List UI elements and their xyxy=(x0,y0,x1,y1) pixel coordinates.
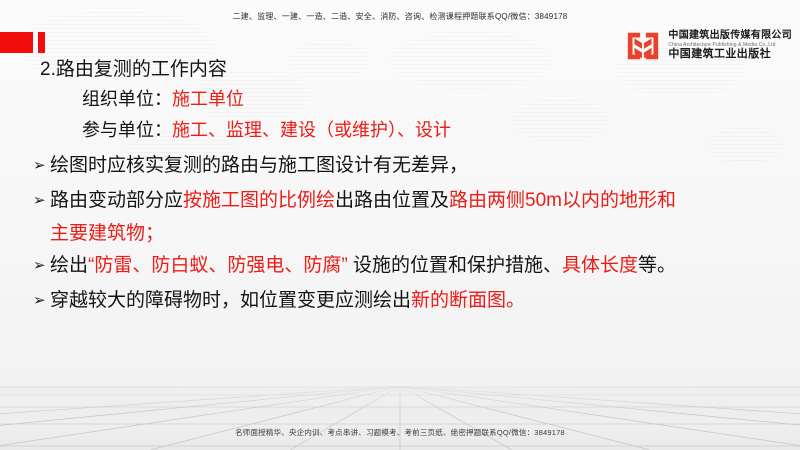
sub-line-participants-value: 施工、监理、建设（或维护）、设计 xyxy=(172,120,451,140)
bullet-text-0-0: 绘图时应核实复测的路由与施工图设计有无差异， xyxy=(50,155,468,176)
bullet-text-2-1: “防雷、防白蚁、防强电、防腐” xyxy=(88,255,348,276)
bullet-text-1-0: 路由变动部分应 xyxy=(50,190,183,211)
bullet-arrow-icon: ➢ xyxy=(33,149,50,183)
bullet-text-1-1: 按施工图的比例绘 xyxy=(183,190,335,211)
bullet-item: ➢绘图时应核实复测的路由与施工图设计有无差异， xyxy=(33,149,800,184)
bullet-text-2-0: 绘出 xyxy=(50,255,88,276)
sub-line-participants-label: 参与单位： xyxy=(82,120,172,140)
bullet-item: ➢绘出“防雷、防白蚁、防强电、防腐” 设施的位置和保护措施、具体长度等。 xyxy=(33,249,800,284)
bullet-text-2-2: 设施的位置和保护措施、 xyxy=(348,255,562,276)
presentation-slide: 二建、监理、一建、一造、二造、安全、消防、咨询、检测课程押题联系QQ/微信：38… xyxy=(0,0,800,450)
footer-text: 名师面授精华、央企内训、考点串讲、习题模考、考前三页纸、绝密押题联系QQ/微信：… xyxy=(0,427,800,438)
sub-line-organizer-label: 组织单位： xyxy=(82,89,172,109)
bullet-text-3-0: 穿越较大的障碍物时，如位置变更应测绘出 xyxy=(50,290,411,311)
slide-content: 2.路由复测的工作内容 组织单位：施工单位 参与单位：施工、监理、建设（或维护）… xyxy=(0,56,800,319)
bullet-text-1-3: 路由两侧50m以内的地形和 xyxy=(449,190,676,211)
bullet-item: ➢穿越较大的障碍物时，如位置变更应测绘出新的断面图。 xyxy=(33,284,800,319)
floor-sheen xyxy=(0,386,800,450)
top-banner-text: 二建、监理、一建、一造、二造、安全、消防、咨询、检测课程押题联系QQ/微信：38… xyxy=(0,11,800,22)
publisher-company-cn: 中国建筑出版传媒有限公司 xyxy=(668,31,792,42)
bullet-continuation: 主要建筑物； xyxy=(50,219,800,249)
bullet-arrow-icon: ➢ xyxy=(33,249,50,283)
bullet-text-2-3: 具体长度 xyxy=(562,255,638,276)
bullet-arrow-icon: ➢ xyxy=(33,284,50,318)
bullet-text-2-4: 等。 xyxy=(638,255,676,276)
floor-perspective xyxy=(0,386,800,450)
bullet-arrow-icon: ➢ xyxy=(33,184,50,218)
red-block-large xyxy=(0,32,33,53)
red-block-small xyxy=(38,32,45,53)
red-decoration-blocks xyxy=(0,32,45,53)
bullet-text-1-2: 出路由位置及 xyxy=(335,190,449,211)
sub-line-organizer: 组织单位：施工单位 xyxy=(82,84,800,115)
slide-heading: 2.路由复测的工作内容 xyxy=(40,56,800,84)
bullet-item: ➢路由变动部分应按施工图的比例绘出路由位置及路由两侧50m以内的地形和 xyxy=(33,184,800,219)
sub-line-participants: 参与单位：施工、监理、建设（或维护）、设计 xyxy=(82,115,800,146)
bullet-text-3-1: 新的断面图。 xyxy=(411,290,525,311)
sub-line-organizer-value: 施工单位 xyxy=(172,89,244,109)
